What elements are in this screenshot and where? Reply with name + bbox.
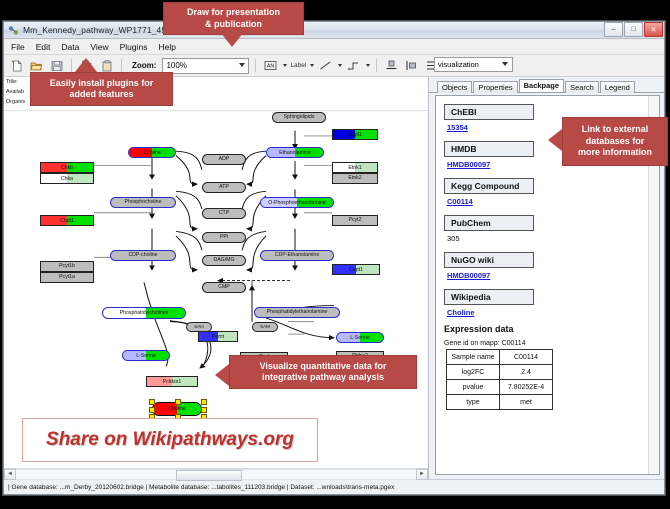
meta-organism-label: Organis xyxy=(6,99,25,105)
node-label: DAG/MG xyxy=(213,258,234,263)
node-label: SAH xyxy=(194,325,203,330)
callout-links: Link to external databases for more info… xyxy=(562,117,668,166)
tab-objects[interactable]: Objects xyxy=(437,81,472,93)
scroll-left-icon[interactable]: ◄ xyxy=(4,469,16,480)
meta-title-label: Title: xyxy=(6,79,18,85)
toolbar-separator xyxy=(121,59,122,72)
meta-available-label: Availab xyxy=(6,89,24,95)
pathway-gene-node[interactable]: Chkb xyxy=(40,162,94,173)
node-label: Chkb xyxy=(41,166,93,171)
chevron-down-icon xyxy=(502,62,508,66)
pathway-node[interactable]: SAM xyxy=(252,322,278,332)
backpage-section-heading: PubChem xyxy=(444,215,534,231)
chevron-down-icon[interactable] xyxy=(283,64,287,67)
pathway-node[interactable]: Sphingolipids xyxy=(272,112,326,123)
menu-data[interactable]: Data xyxy=(60,42,80,52)
window-controls: – □ ✕ xyxy=(604,22,663,37)
tab-properties[interactable]: Properties xyxy=(473,81,517,93)
zoom-value: 100% xyxy=(166,61,186,70)
callout-draw-text: Draw for presentation & publication xyxy=(187,7,280,30)
node-label: L-Serine xyxy=(337,336,383,341)
pathway-gene-node[interactable]: Pcyt1b xyxy=(40,261,94,272)
chevron-down-icon xyxy=(239,63,245,67)
chevron-down-icon[interactable] xyxy=(366,64,370,67)
pathway-node[interactable]: CTP xyxy=(202,208,246,219)
status-bar: | Gene database: ...m_Derby_20120602.bri… xyxy=(4,479,664,494)
table-cell-value: 7.80252E-4 xyxy=(500,380,553,395)
chevron-down-icon[interactable] xyxy=(338,64,342,67)
callout-links-arrow-icon xyxy=(548,129,562,151)
line-dropdown-icon[interactable] xyxy=(317,57,334,74)
pathway-node[interactable]: CDP-Ethanolamine xyxy=(260,250,334,261)
pathway-node[interactable]: ADP xyxy=(202,154,246,165)
pathway-gene-node[interactable]: Chka xyxy=(40,173,94,184)
menu-bar: File Edit Data View Plugins Help xyxy=(4,39,664,55)
node-label: Sgpl1 xyxy=(333,133,377,138)
node-label: CDP-choline xyxy=(128,253,157,258)
visualization-value: visualization xyxy=(438,60,479,69)
align-left-icon[interactable] xyxy=(403,57,420,74)
node-label: ADP xyxy=(219,157,230,162)
node-label: Etnk1 xyxy=(333,166,377,171)
backpage-value-pubchem: 305 xyxy=(447,234,659,243)
callout-share: Share on Wikipathways.org xyxy=(22,418,318,462)
pathway-gene-node[interactable]: Etnk2 xyxy=(332,173,378,184)
expression-data-title: Expression data xyxy=(444,324,659,334)
pathway-gene-node[interactable]: Pcyt1a xyxy=(40,272,94,283)
table-cell-key: type xyxy=(447,395,500,410)
node-label: Pcyt1b xyxy=(59,264,75,269)
minimize-button[interactable]: – xyxy=(604,22,623,37)
callout-plugins-text: Easily install plugins for added feature… xyxy=(50,78,154,101)
hscroll-track[interactable] xyxy=(16,469,416,480)
node-label: Phosphatidylcholines xyxy=(103,311,185,316)
pathway-gene-node[interactable]: Pcyt2 xyxy=(332,215,378,226)
backpage-section-heading: Wikipedia xyxy=(444,289,534,305)
pathway-node[interactable]: O-Phosphoethanolamine xyxy=(260,197,334,208)
backpage-section-heading: ChEBI xyxy=(444,104,534,120)
node-label: Choline xyxy=(129,151,175,156)
callout-visualize-text: Visualize quantitative data for integrat… xyxy=(260,361,387,384)
pathway-node-ptdcho[interactable]: Phosphatidylcholines xyxy=(102,307,186,319)
pathway-node-ethanolamine[interactable]: Ethanolamine xyxy=(266,147,324,158)
pathway-node-choline[interactable]: Choline xyxy=(128,147,176,158)
scroll-right-icon[interactable]: ► xyxy=(416,469,428,480)
node-label: Cept1 xyxy=(333,268,379,273)
node-label: Etnk2 xyxy=(348,176,361,181)
label-tool-label[interactable]: Label xyxy=(290,62,306,69)
pathway-node[interactable]: PPi xyxy=(202,232,246,243)
node-label: Pcyt1a xyxy=(59,275,75,280)
selection-handle[interactable] xyxy=(149,407,155,413)
zoom-combobox[interactable]: 100% xyxy=(162,58,249,74)
close-button[interactable]: ✕ xyxy=(644,22,663,37)
selection-handle[interactable] xyxy=(201,399,207,405)
node-label: CTP xyxy=(219,211,229,216)
pathway-gene-node[interactable]: Etnk1 xyxy=(332,162,378,173)
callout-plugins-arrow-icon xyxy=(75,58,97,72)
node-label: Pemt xyxy=(199,335,237,340)
selection-handle[interactable] xyxy=(201,407,207,413)
tab-search[interactable]: Search xyxy=(565,81,599,93)
menu-edit[interactable]: Edit xyxy=(35,42,52,52)
table-row: type met xyxy=(447,395,553,410)
toolbar-separator xyxy=(71,59,72,72)
node-label: SAM xyxy=(260,325,270,330)
table-row: Sample name C00114 xyxy=(447,350,553,365)
pathvisio-icon xyxy=(8,25,19,36)
node-label: ATP xyxy=(219,185,229,190)
callout-plugins: Easily install plugins for added feature… xyxy=(30,72,173,106)
pathway-gene-node[interactable]: Sgpl1 xyxy=(332,129,378,140)
node-label: Sphingolipids xyxy=(284,115,315,120)
gene-id-line: Gene id on mapp: C00114 xyxy=(444,340,659,347)
menu-help[interactable]: Help xyxy=(158,42,177,52)
status-text: | Gene database: ...m_Derby_20120602.bri… xyxy=(8,484,394,491)
callout-share-text: Share on Wikipathways.org xyxy=(46,429,294,451)
pathway-canvas[interactable]: Sphingolipids Choline Ethanolamine ADP A… xyxy=(4,111,428,468)
visualization-combobox[interactable]: visualization xyxy=(434,57,513,72)
screenshot-root: Mm_Kennedy_pathway_WP1771_45176.gpml – □… xyxy=(0,0,670,509)
datanode-dropdown-icon[interactable]: AN xyxy=(262,57,279,74)
backpage-link-kegg[interactable]: C00114 xyxy=(447,197,659,206)
table-row: pvalue 7.80252E-4 xyxy=(447,380,553,395)
pathway-node[interactable]: CDP-choline xyxy=(110,250,176,261)
node-label: Pctdss1 xyxy=(147,380,197,385)
pathway-node[interactable]: CMP xyxy=(202,282,246,293)
backpage-link-wikipedia[interactable]: Choline xyxy=(447,308,659,317)
table-row: log2FC 2.4 xyxy=(447,365,553,380)
callout-visualize-arrow-icon xyxy=(215,364,229,386)
canvas-hscrollbar[interactable]: ◄ ► xyxy=(4,468,428,479)
pathway-gene-node[interactable]: Pemt xyxy=(198,331,238,342)
node-label: Pcyt2 xyxy=(349,218,362,223)
table-cell-key: log2FC xyxy=(447,365,500,380)
node-label: CMP xyxy=(218,285,230,290)
backpage-link-nugo[interactable]: HMDB00097 xyxy=(447,271,659,280)
callout-draw: Draw for presentation & publication xyxy=(163,2,304,35)
node-label: PPi xyxy=(220,235,228,240)
backpage-section-heading: Kegg Compound xyxy=(444,178,534,194)
toolbar-separator xyxy=(255,59,256,72)
align-top-icon[interactable] xyxy=(383,57,400,74)
node-label: L-Serine xyxy=(123,354,169,359)
callout-draw-arrow-icon xyxy=(221,33,243,47)
node-label: CDP-Ethanolamine xyxy=(275,253,319,258)
backpage-section-heading: HMDB xyxy=(444,141,534,157)
menu-view[interactable]: View xyxy=(89,42,109,52)
table-cell-key: pvalue xyxy=(447,380,500,395)
maximize-button[interactable]: □ xyxy=(624,22,643,37)
tab-legend[interactable]: Legend xyxy=(600,81,635,93)
node-label: O-Phosphoethanolamine xyxy=(261,201,333,206)
pathway-node[interactable]: DAG/MG xyxy=(202,255,246,266)
node-label: Choline xyxy=(153,407,201,412)
tab-backpage[interactable]: Backpage xyxy=(519,79,564,92)
table-cell-value: met xyxy=(500,395,553,410)
table-cell-value: C00114 xyxy=(500,350,553,365)
side-panel-tabs: Objects Properties Backpage Search Legen… xyxy=(429,77,664,93)
backpage-section-heading: NuGO wiki xyxy=(444,252,534,268)
node-label: Phosphocholine xyxy=(125,200,162,205)
toolbar-separator xyxy=(376,59,377,72)
menu-file[interactable]: File xyxy=(10,42,26,52)
table-cell-key: Sample name xyxy=(447,350,500,365)
title-bar: Mm_Kennedy_pathway_WP1771_45176.gpml – □… xyxy=(4,22,664,39)
pathway-gene-node[interactable]: Chpt1 xyxy=(40,215,94,226)
pathway-node[interactable]: L-Serine xyxy=(336,332,384,343)
node-label: Ethanolamine xyxy=(267,151,323,156)
table-cell-value: 2.4 xyxy=(500,365,553,380)
pathway-node[interactable]: ATP xyxy=(202,182,246,193)
chevron-down-icon[interactable] xyxy=(310,64,314,67)
svg-text:AN: AN xyxy=(267,63,275,69)
hscroll-thumb[interactable] xyxy=(176,470,242,481)
expression-data-table: Sample name C00114 log2FC 2.4 pvalue 7.8… xyxy=(446,349,553,410)
menu-plugins[interactable]: Plugins xyxy=(119,42,149,52)
pathway-node-ptdetn[interactable]: Phosphatidylethanolamine xyxy=(254,307,340,318)
connector-dropdown-icon[interactable] xyxy=(345,57,362,74)
selection-handle[interactable] xyxy=(149,399,155,405)
callout-links-text: Link to external databases for more info… xyxy=(578,124,652,159)
pathway-node[interactable]: L-Serine xyxy=(122,350,170,361)
selection-handle[interactable] xyxy=(175,399,181,405)
zoom-label: Zoom: xyxy=(132,61,156,70)
node-label: Phosphatidylethanolamine xyxy=(267,310,328,315)
pathway-node[interactable]: Phosphocholine xyxy=(110,197,176,208)
node-label: Chpt1 xyxy=(41,219,93,224)
callout-visualize: Visualize quantitative data for integrat… xyxy=(229,355,417,389)
pathway-gene-node[interactable]: Cept1 xyxy=(332,264,380,275)
node-label: Chka xyxy=(41,177,93,182)
pathway-gene-node[interactable]: Pctdss1 xyxy=(146,376,198,387)
new-file-icon[interactable] xyxy=(8,57,25,74)
